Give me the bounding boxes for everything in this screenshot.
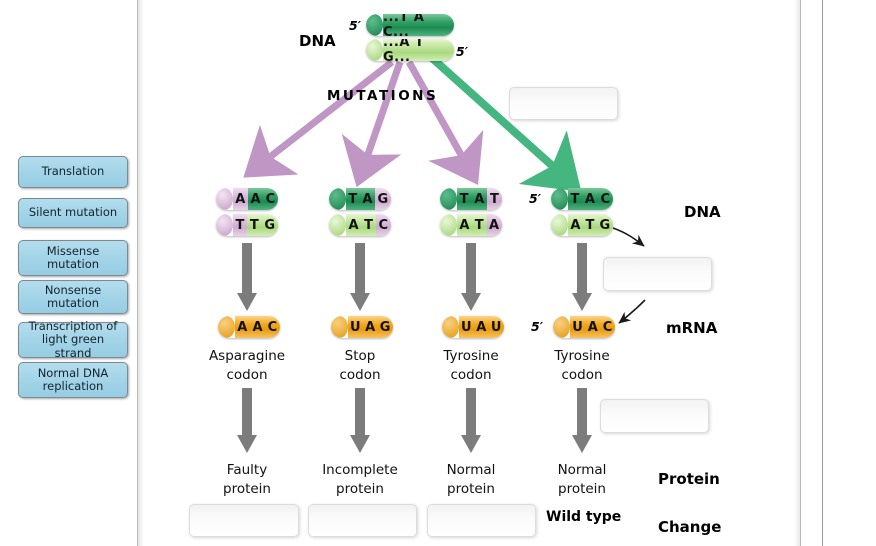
drag-label-missense-mutation[interactable]: Missense mutation bbox=[18, 240, 128, 276]
row-label-mrna: mRNA bbox=[666, 319, 717, 337]
cylinder-cap bbox=[440, 214, 457, 236]
cylinder-cap bbox=[218, 316, 235, 338]
base-2: A bbox=[248, 188, 263, 210]
strand-sequence: ...A T G... bbox=[383, 39, 454, 61]
source-top-prime: 5′ bbox=[349, 18, 361, 33]
cylinder-cap bbox=[331, 316, 348, 338]
drag-label-text: Normal DNA replication bbox=[38, 367, 109, 394]
base-1: A bbox=[235, 316, 250, 338]
panel-divider-far-right bbox=[822, 0, 823, 546]
base-1: U bbox=[570, 316, 586, 338]
codon-name-col4: Tyrosine codon bbox=[503, 347, 661, 385]
strand-cap bbox=[366, 39, 383, 61]
dropzone-change-col3[interactable] bbox=[427, 504, 536, 537]
translation-arrows bbox=[237, 388, 592, 453]
row-label-change: Change bbox=[658, 518, 721, 536]
dna-top-col2: TAG bbox=[329, 188, 391, 210]
cylinder-cap bbox=[551, 188, 568, 210]
diagram-stage: TranslationSilent mutationMissense mutat… bbox=[0, 0, 876, 546]
dna-source-label: DNA bbox=[299, 32, 336, 50]
dna-top-col4: TAC bbox=[551, 188, 613, 210]
drag-label-text: Translation bbox=[42, 165, 105, 179]
row-label-protein: Protein bbox=[658, 470, 720, 488]
base-3: C bbox=[263, 188, 278, 210]
base-3: G bbox=[375, 188, 391, 210]
protein-label-col4: Normal protein bbox=[503, 461, 661, 499]
base-3: G bbox=[378, 316, 393, 338]
base-2: T bbox=[472, 214, 486, 236]
base-1: U bbox=[348, 316, 363, 338]
drag-label-text: Nonsense mutation bbox=[45, 284, 101, 311]
base-3: G bbox=[262, 214, 278, 236]
drag-label-normal-dna-replication[interactable]: Normal DNA replication bbox=[18, 362, 128, 398]
base-3: C bbox=[601, 316, 615, 338]
drag-label-text: Missense mutation bbox=[47, 245, 100, 272]
base-2: A bbox=[363, 316, 378, 338]
base-3: A bbox=[487, 214, 502, 236]
base-2: A bbox=[250, 316, 265, 338]
drag-label-silent-mutation[interactable]: Silent mutation bbox=[18, 198, 128, 228]
wild-type-label: Wild type bbox=[546, 509, 621, 525]
dropzone-top-process[interactable] bbox=[509, 87, 618, 120]
cylinder-cap bbox=[329, 188, 346, 210]
base-2: A bbox=[360, 188, 375, 210]
mrna-col2: UAG bbox=[331, 316, 393, 338]
drag-label-text: Transcription of light green strand bbox=[22, 320, 124, 361]
base-1: U bbox=[459, 316, 474, 338]
source-strand-top: ...T A C... bbox=[366, 14, 454, 36]
drag-label-translation[interactable]: Translation bbox=[18, 156, 128, 188]
base-2: T bbox=[362, 214, 376, 236]
dropzone-dna-to-mrna[interactable] bbox=[603, 257, 712, 291]
transcription-arrows bbox=[237, 243, 592, 311]
cylinder-cap bbox=[440, 188, 457, 210]
base-1: T bbox=[568, 188, 582, 210]
base-1: T bbox=[233, 214, 247, 236]
mrna-col4: UAC bbox=[553, 316, 615, 338]
mutations-label: MUTATIONS bbox=[327, 88, 438, 104]
base-2: A bbox=[474, 316, 489, 338]
cylinder-cap bbox=[551, 214, 568, 236]
base-3: T bbox=[487, 188, 502, 210]
dna-bottom-col4: ATG bbox=[551, 214, 613, 236]
drag-label-transcription-light-green-strand[interactable]: Transcription of light green strand bbox=[18, 322, 128, 358]
base-1: T bbox=[346, 188, 360, 210]
cylinder-cap bbox=[216, 188, 233, 210]
strand-sequence: ...T A C... bbox=[383, 14, 454, 36]
dropzone-mrna-to-protein[interactable] bbox=[600, 399, 709, 433]
dna-top-col1: AAC bbox=[216, 188, 278, 210]
cylinder-cap bbox=[553, 316, 570, 338]
base-1: A bbox=[457, 214, 472, 236]
cylinder-cap bbox=[216, 214, 233, 236]
dna-bottom-col2: ATC bbox=[329, 214, 391, 236]
drag-label-nonsense-mutation[interactable]: Nonsense mutation bbox=[18, 280, 128, 314]
base-3: G bbox=[597, 214, 613, 236]
base-1: A bbox=[568, 214, 583, 236]
mutation-arrows bbox=[266, 62, 464, 160]
cylinder-cap bbox=[329, 214, 346, 236]
row-label-dna: DNA bbox=[684, 203, 721, 221]
base-1: A bbox=[233, 188, 248, 210]
source-bottom-prime: 5′ bbox=[456, 44, 468, 59]
source-strand-bottom: ...A T G... bbox=[366, 39, 454, 61]
panel-divider-right bbox=[800, 0, 801, 546]
base-3: C bbox=[598, 188, 613, 210]
dropzone-change-col1[interactable] bbox=[189, 504, 299, 537]
cylinder-cap bbox=[442, 316, 459, 338]
base-1: T bbox=[457, 188, 472, 210]
base-3: U bbox=[489, 316, 504, 338]
dna-bottom-col3: ATA bbox=[440, 214, 502, 236]
base-2: T bbox=[583, 214, 597, 236]
mrna-col3: UAU bbox=[442, 316, 504, 338]
base-2: A bbox=[586, 316, 601, 338]
base-2: T bbox=[247, 214, 261, 236]
strand-cap bbox=[366, 14, 383, 36]
prime-mrna-col4: 5′ bbox=[531, 319, 543, 334]
base-3: C bbox=[376, 214, 391, 236]
dropzone-change-col2[interactable] bbox=[308, 504, 417, 537]
base-1: A bbox=[346, 214, 362, 236]
panel-shadow-left bbox=[138, 0, 144, 546]
dna-bottom-col1: TTG bbox=[216, 214, 278, 236]
base-2: A bbox=[472, 188, 488, 210]
mrna-col1: AAC bbox=[218, 316, 280, 338]
dna-top-col3: TAT bbox=[440, 188, 502, 210]
drag-label-text: Silent mutation bbox=[29, 206, 117, 220]
base-3: C bbox=[265, 316, 280, 338]
base-2: A bbox=[582, 188, 598, 210]
prime-dna-col4: 5′ bbox=[529, 191, 541, 206]
